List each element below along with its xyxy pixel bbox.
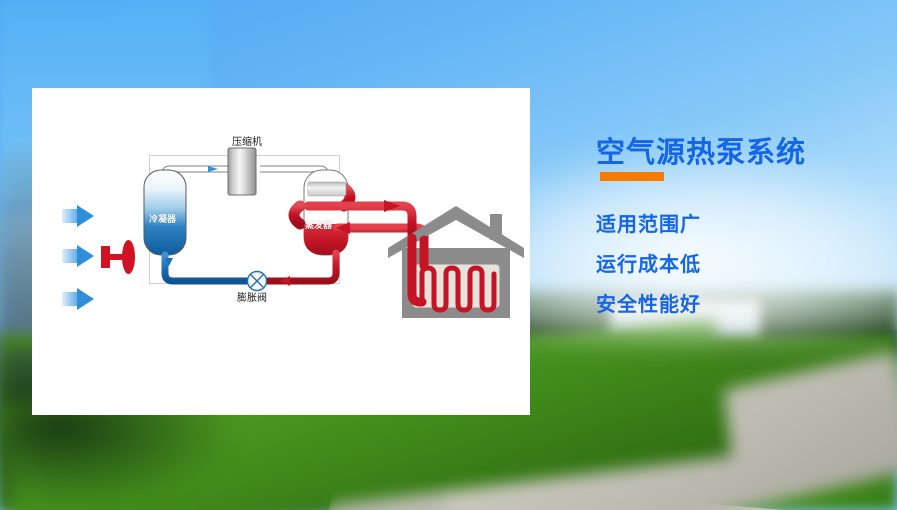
expansion-valve-label: 膨胀阀 <box>237 294 267 304</box>
evaporator-label: 蒸发器 <box>305 222 332 231</box>
feature-item-2: 安全性能好 <box>596 288 701 317</box>
condenser-body <box>144 170 186 255</box>
fan-blade <box>122 240 135 274</box>
compressor-body <box>228 148 256 195</box>
illustration-card: 压缩机 膨胀阀 冷凝器 蒸发器 <box>32 88 530 415</box>
feature-item-1: 运行成本低 <box>596 248 701 277</box>
expansion-valve <box>248 272 267 291</box>
blower-fan-icon <box>101 240 137 274</box>
condenser-label: 冷凝器 <box>149 216 176 225</box>
title-accent-bar <box>600 172 664 181</box>
page-title: 空气源热泵系统 <box>596 129 806 171</box>
air-arrow-bottom-icon <box>62 288 96 310</box>
air-arrow-middle-icon <box>62 245 96 267</box>
slide-canvas: 压缩机 膨胀阀 冷凝器 蒸发器 空气源热泵系统 适用范围广 运行成本低 安全性能… <box>0 0 897 510</box>
feature-item-0: 适用范围广 <box>596 208 701 237</box>
compressor-label: 压缩机 <box>232 138 262 148</box>
air-arrow-top-icon <box>62 205 96 227</box>
evaporator-body <box>294 170 350 255</box>
